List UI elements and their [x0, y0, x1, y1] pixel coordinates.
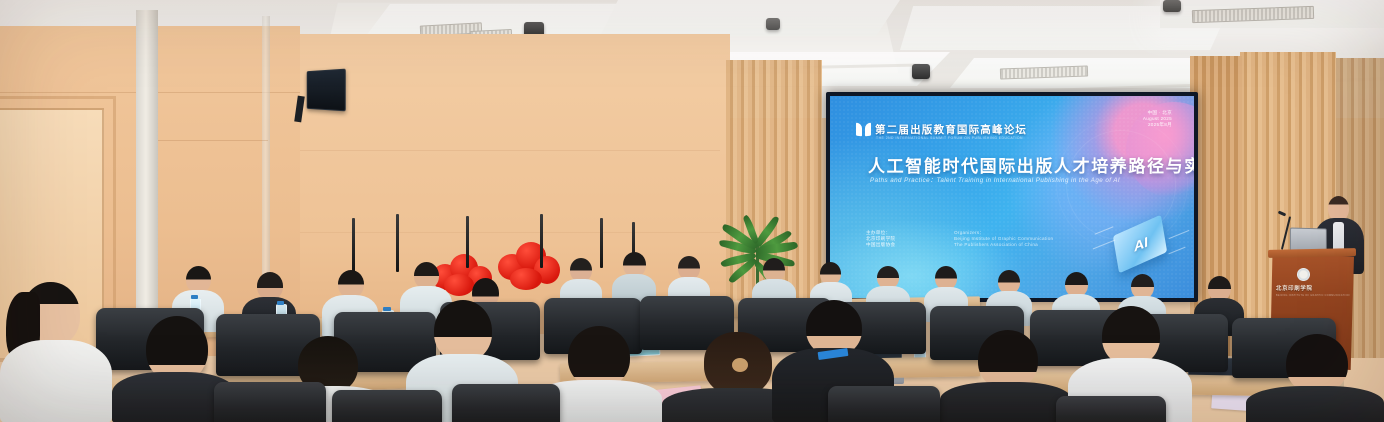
podium-institution-name-en: BEIJING INSTITUTE OF GRAPHIC COMMUNICATI…	[1276, 294, 1350, 297]
forum-logo-subtitle: THE 2ND INTERNATIONAL SUMMIT FORUM ON PU…	[876, 136, 1023, 140]
table-microphone	[396, 214, 399, 272]
wall-panel-seam	[300, 150, 720, 151]
ceiling-speaker	[766, 18, 780, 30]
person-head	[978, 330, 1038, 390]
office-chair	[1056, 396, 1166, 422]
flower-bloom	[510, 268, 542, 290]
audience-member-foreground	[1246, 334, 1384, 422]
person-head	[338, 270, 364, 298]
audience-member-foreground	[940, 330, 1072, 422]
partition-track	[136, 10, 158, 340]
event-date: 中国 · 北京 August 2025 2025年8月	[1143, 110, 1172, 128]
bottle-cap	[191, 295, 198, 299]
person-head	[186, 266, 211, 293]
table-microphone	[466, 216, 469, 268]
forum-logo: 第二届出版教育国际高峰论坛	[856, 122, 1027, 137]
office-chair	[332, 390, 442, 422]
university-crest-icon	[1297, 268, 1310, 281]
audience-member-foreground	[0, 282, 112, 422]
person-head	[568, 326, 630, 388]
bottle-cap	[383, 307, 391, 311]
wall-mounted-display	[307, 69, 346, 112]
book-logo-icon	[856, 123, 871, 136]
forum-logo-title: 第二届出版教育国际高峰论坛	[875, 122, 1027, 137]
office-chair	[828, 386, 940, 422]
wall-panel-seam	[158, 140, 268, 141]
person-head	[1102, 306, 1160, 366]
wall-panel-seam	[300, 232, 720, 233]
table-microphone	[352, 218, 355, 272]
person-torso	[1246, 386, 1384, 422]
person-head	[257, 272, 283, 300]
person-head	[434, 300, 492, 362]
ceiling-speaker	[912, 64, 930, 79]
podium-institution-name: 北京印刷学院	[1276, 284, 1313, 292]
ceiling-speaker	[1163, 0, 1181, 12]
organizers-cn: 主办单位： 北京印刷学院 中国出版协会	[866, 230, 895, 249]
slide-title-cn: 人工智能时代国际出版人才培养路径与实践	[868, 152, 1194, 177]
ceiling-light-panel	[600, 0, 900, 36]
slide-title-en: Paths and Practice：Talent Training in In…	[870, 175, 1120, 184]
conference-photo: 第二届出版教育国际高峰论坛 THE 2ND INTERNATIONAL SUMM…	[0, 0, 1384, 422]
bottle-cap	[277, 301, 284, 305]
office-chair	[214, 382, 326, 422]
person-torso	[0, 340, 112, 422]
ai-chip-graphic: AI	[1108, 216, 1174, 272]
person-head	[414, 262, 439, 289]
table-microphone	[540, 214, 543, 268]
office-chair	[452, 384, 560, 422]
organizers-en: Organizers： Beijing Institute of Graphic…	[954, 230, 1053, 249]
person-head	[1286, 334, 1348, 394]
person-torso	[940, 382, 1072, 422]
hair-clip	[732, 358, 748, 372]
